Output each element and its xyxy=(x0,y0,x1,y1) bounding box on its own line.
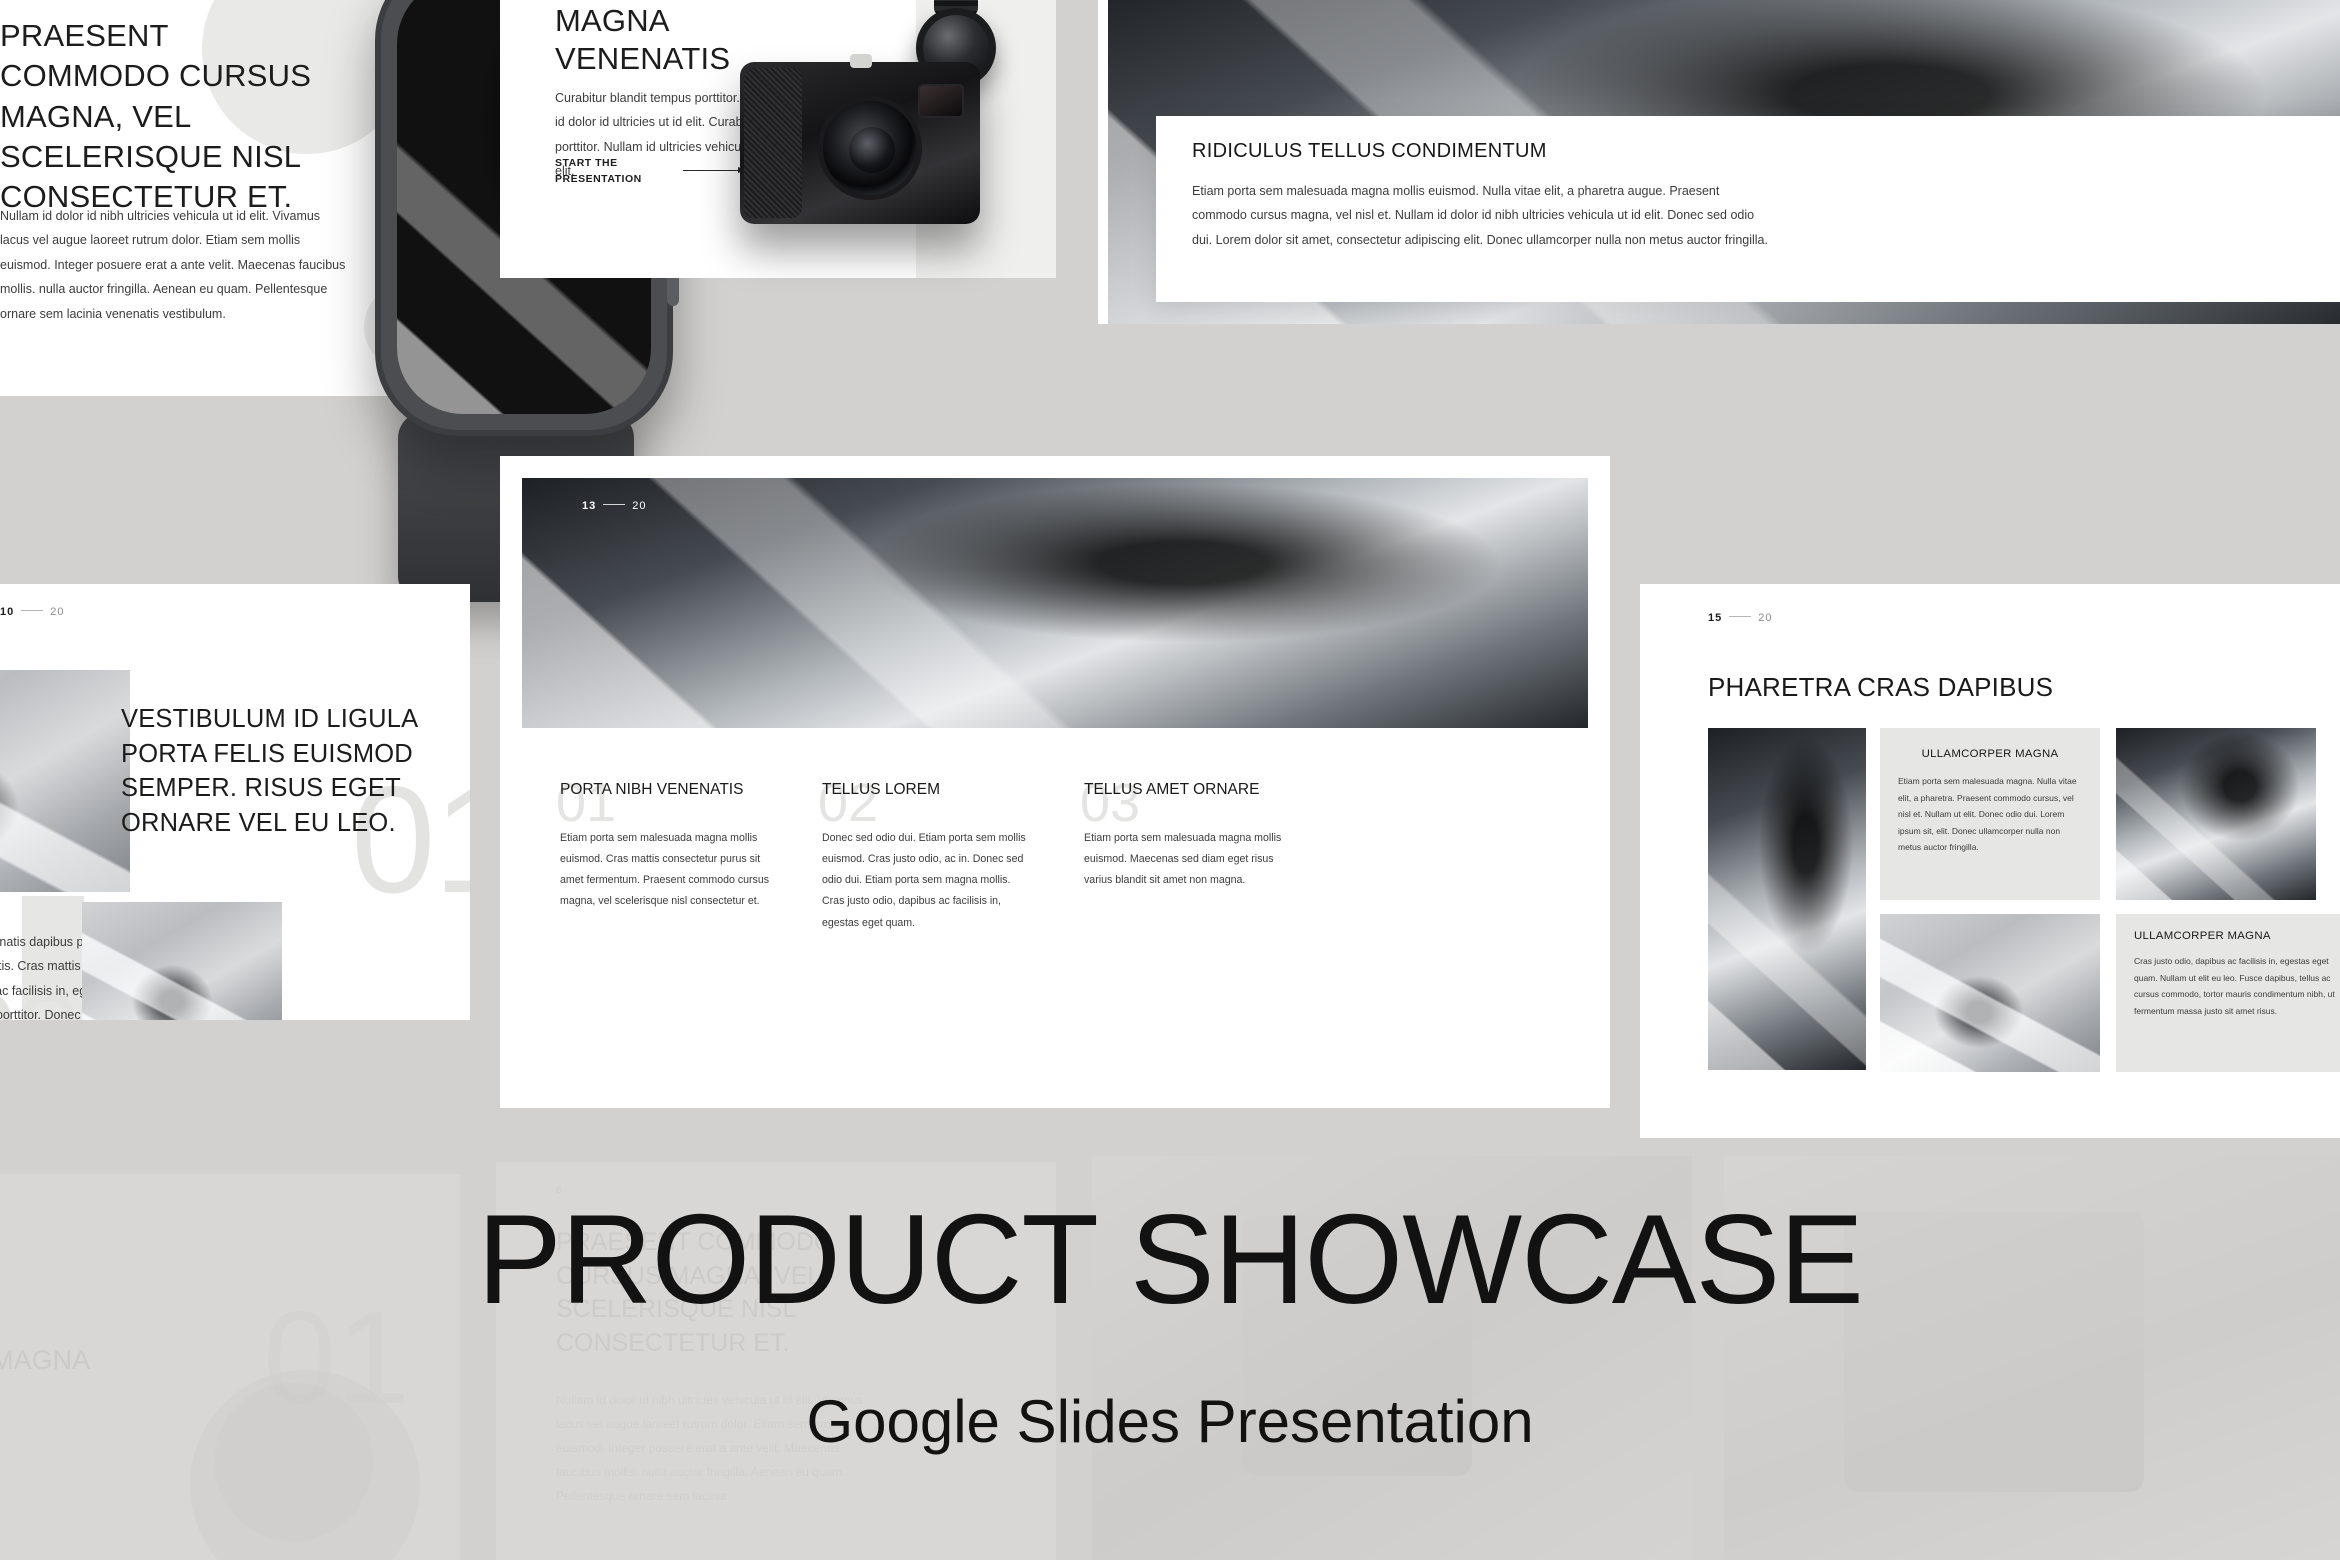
column-heading: TELLUS LOREM xyxy=(822,780,1032,800)
slide-d-page-current: 10 xyxy=(0,606,14,618)
column-heading: PORTA NIBH VENENATIS xyxy=(560,780,770,800)
slide-f-page-current: 15 xyxy=(1708,612,1722,624)
page-subtitle: Google Slides Presentation xyxy=(0,1392,2340,1452)
slide-e-page-total: 20 xyxy=(632,500,646,512)
column-body: Etiam porta sem malesuada magna mollis e… xyxy=(1084,828,1294,892)
slide-d-pager: 1020 xyxy=(0,606,65,618)
slide-f-photo-1 xyxy=(1708,728,1866,1070)
column-body: Etiam porta sem malesuada magna mollis e… xyxy=(560,828,770,913)
slide-f-card-1: ULLAMCORPER MAGNA Etiam porta sem malesu… xyxy=(1880,728,2100,900)
slide-f-card-1-heading: ULLAMCORPER MAGNA xyxy=(1898,748,2082,760)
slide-f-card-1-body: Etiam porta sem malesuada magna. Nulla v… xyxy=(1898,773,2082,856)
column-body: Donec sed odio dui. Etiam porta sem moll… xyxy=(822,828,1032,934)
start-presentation-button[interactable]: START THE PRESENTATION xyxy=(555,156,642,188)
slide-a-title: PRAESENT COMMODO CURSUS MAGNA, VEL SCELE… xyxy=(0,16,340,217)
slide-e-columns: 01 PORTA NIBH VENENATIS Etiam porta sem … xyxy=(560,780,1560,934)
slide-e-hero-photo xyxy=(522,478,1588,728)
slide-e-page-current: 13 xyxy=(582,500,596,512)
slide-d-page-total: 20 xyxy=(50,606,64,618)
slide-porta-nibh-venenatis[interactable]: 1320 01 PORTA NIBH VENENATIS Etiam porta… xyxy=(500,456,1610,1108)
slide-c-heading: RIDICULUS TELLUS CONDIMENTUM xyxy=(1192,140,2340,163)
slide-f-page-total: 20 xyxy=(1758,612,1772,624)
slide-d-photo-right xyxy=(82,902,282,1020)
camera-shutter-icon xyxy=(850,54,872,68)
column-heading: TELLUS AMET ORNARE xyxy=(1084,780,1294,800)
slide-c-text-card: RIDICULUS TELLUS CONDIMENTUM Etiam porta… xyxy=(1156,116,2340,302)
cta-line-2: PRESENTATION xyxy=(555,172,642,188)
slide-e-column: 02 TELLUS LOREM Donec sed odio dui. Etia… xyxy=(822,780,1032,934)
slide-e-pager: 1320 xyxy=(582,500,647,512)
slide-f-card-2-heading: ULLAMCORPER MAGNA xyxy=(2134,930,2336,942)
slide-d-photo-left xyxy=(0,670,130,892)
slide-f-photo-3 xyxy=(1880,914,2100,1072)
camera-grip xyxy=(744,68,802,218)
slide-pharetra-cras-dapibus[interactable]: 1520 PHARETRA CRAS DAPIBUS ULLAMCORPER M… xyxy=(1640,584,2340,1138)
camera-mock xyxy=(740,62,980,224)
slide-f-card-2: ULLAMCORPER MAGNA Cras justo odio, dapib… xyxy=(2116,914,2340,1072)
cta-line-1: START THE xyxy=(555,156,642,172)
arrow-right-icon xyxy=(683,170,745,171)
slide-f-card-2-body: Cras justo odio, dapibus ac facilisis in… xyxy=(2134,953,2336,1019)
slide-f-title: PHARETRA CRAS DAPIBUS xyxy=(1708,672,2053,703)
slide-d-title: VESTIBULUM ID LIGULA PORTA FELIS EUISMOD… xyxy=(121,702,470,841)
slide-vestibulum-id-ligula[interactable]: 1020 01 VESTIBULUM ID LIGULA PORTA FELIS… xyxy=(0,584,470,1020)
camera-lens xyxy=(818,96,922,200)
camera-viewfinder xyxy=(918,84,964,118)
slide-e-column: 01 PORTA NIBH VENENATIS Etiam porta sem … xyxy=(560,780,770,934)
slide-e-column: 03 TELLUS AMET ORNARE Etiam porta sem ma… xyxy=(1084,780,1294,934)
slide-f-photo-2 xyxy=(2116,728,2316,900)
slide-f-pager: 1520 xyxy=(1708,612,1773,624)
slide-ridiculus-tellus[interactable]: RIDICULUS TELLUS CONDIMENTUM Etiam porta… xyxy=(1098,0,2340,324)
slide-c-body: Etiam porta sem malesuada magna mollis e… xyxy=(1192,179,1772,252)
page-title: PRODUCT SHOWCASE xyxy=(0,1196,2340,1323)
slide-a-body: Nullam id dolor id nibh ultricies vehicu… xyxy=(0,204,350,326)
